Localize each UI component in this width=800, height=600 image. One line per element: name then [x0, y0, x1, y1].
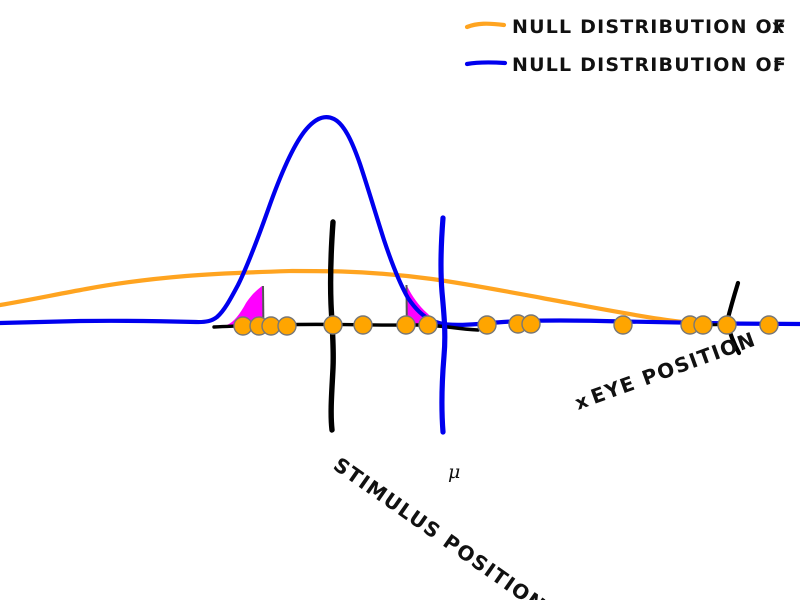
data-point [760, 316, 778, 334]
figure-canvas: NULL DISTRIBUTION OF x NULL DISTRIBUTION… [0, 0, 800, 600]
legend-label-t: NULL DISTRIBUTION OF [512, 54, 787, 76]
data-point [324, 316, 342, 334]
data-point [522, 315, 540, 333]
data-point [614, 316, 632, 334]
legend-symbol-x: x [772, 16, 784, 38]
legend-label-x: NULL DISTRIBUTION OF [512, 16, 787, 38]
data-point [354, 316, 372, 334]
legend-swatch-blue [467, 62, 505, 64]
legend-symbol-t: t [773, 52, 782, 76]
legend: NULL DISTRIBUTION OF x NULL DISTRIBUTION… [467, 16, 787, 76]
stimulus-position-label: STIMULUS POSITION [329, 452, 550, 600]
data-point [694, 316, 712, 334]
legend-swatch-orange [467, 24, 504, 27]
sketch-figure: NULL DISTRIBUTION OF x NULL DISTRIBUTION… [0, 0, 800, 600]
data-point [419, 316, 437, 334]
data-point [397, 316, 415, 334]
data-point [478, 316, 496, 334]
eye-position-symbol: x [572, 390, 591, 415]
eye-position-label-group: x EYE POSITION [572, 327, 760, 415]
mu-label: μ [448, 461, 460, 483]
data-point [262, 317, 280, 335]
null-distribution-x-curve [0, 271, 692, 323]
null-distribution-t-curve [0, 117, 800, 325]
eye-position-label: EYE POSITION [587, 327, 759, 409]
data-point [718, 316, 736, 334]
data-point [278, 317, 296, 335]
